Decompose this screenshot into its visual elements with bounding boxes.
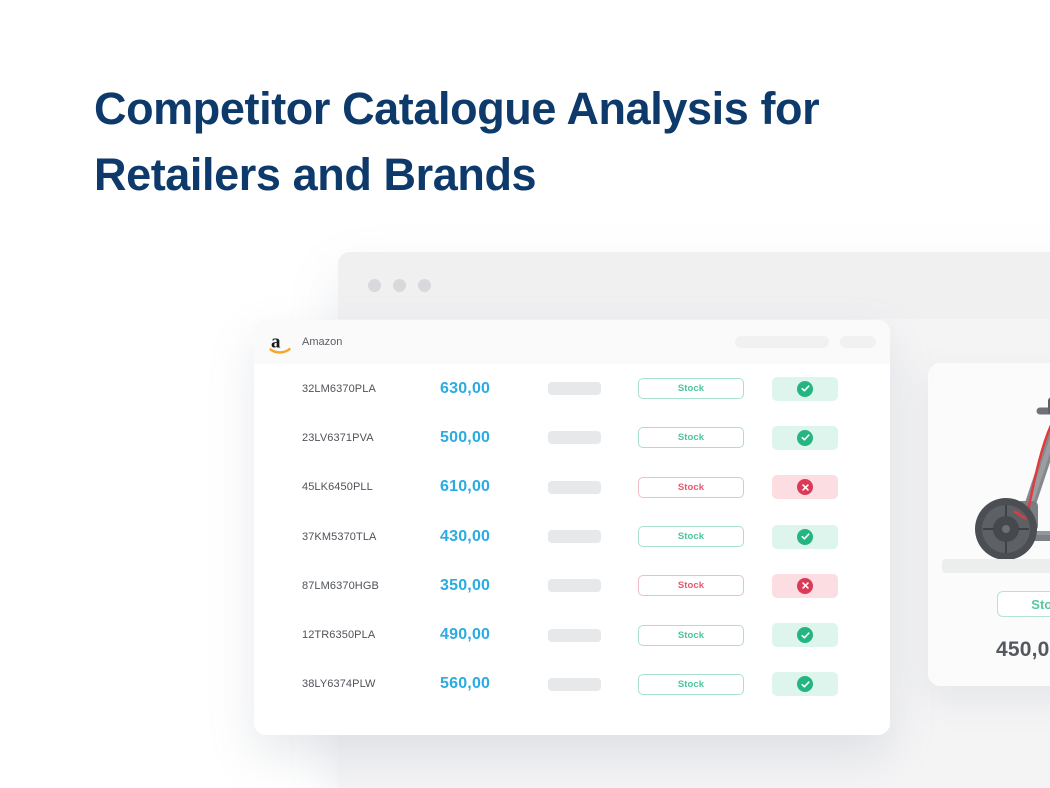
table-row[interactable]: 12TR6350PLA490,00Stock: [254, 610, 890, 659]
header-placeholder-group: [735, 336, 876, 348]
stock-status-pill[interactable]: Stock: [638, 526, 744, 547]
stock-status-pill[interactable]: Stock: [638, 674, 744, 695]
product-sku: 38LY6374PLW: [302, 678, 432, 690]
placeholder-bar: [548, 431, 601, 444]
page-root: Competitor Catalogue Analysis for Retail…: [0, 0, 1050, 788]
table-row[interactable]: 87LM6370HGB350,00Stock: [254, 561, 890, 610]
table-row[interactable]: 38LY6374PLW560,00Stock: [254, 660, 890, 709]
product-sku: 32LM6370PLA: [302, 383, 432, 395]
check-circle-icon: [797, 627, 813, 643]
availability-badge[interactable]: [772, 574, 838, 598]
availability-badge[interactable]: [772, 426, 838, 450]
marketplace-header: a Amazon: [254, 320, 890, 364]
product-stock-badge[interactable]: Stock: [997, 591, 1050, 617]
product-price: 450,00: [996, 638, 1050, 662]
table-row[interactable]: 23LV6371PVA500,00Stock: [254, 413, 890, 462]
placeholder-bar: [548, 678, 601, 691]
availability-badge[interactable]: [772, 672, 838, 696]
table-row[interactable]: 32LM6370PLA630,00Stock: [254, 364, 890, 413]
placeholder-bar: [548, 530, 601, 543]
availability-badge[interactable]: [772, 475, 838, 499]
availability-badge[interactable]: [772, 623, 838, 647]
product-price: 490,00: [440, 626, 530, 644]
amazon-catalogue-card: a Amazon 32LM6370PLA630,00Stock23LV6371P…: [254, 320, 890, 735]
availability-badge[interactable]: [772, 377, 838, 401]
product-price: 430,00: [440, 528, 530, 546]
stock-status-pill[interactable]: Stock: [638, 378, 744, 399]
page-title: Competitor Catalogue Analysis for Retail…: [94, 76, 974, 208]
check-circle-icon: [797, 381, 813, 397]
stock-status-pill[interactable]: Stock: [638, 477, 744, 498]
placeholder-bar: [548, 382, 601, 395]
browser-title-bar: [338, 252, 1050, 319]
amazon-a-smile-icon: a: [268, 329, 294, 355]
stock-status-pill[interactable]: Stock: [638, 625, 744, 646]
product-price: 560,00: [440, 675, 530, 693]
stock-status-pill[interactable]: Stock: [638, 575, 744, 596]
product-sku: 45LK6450PLL: [302, 481, 432, 493]
product-price: 610,00: [440, 478, 530, 496]
placeholder-bar: [548, 481, 601, 494]
product-sku: 23LV6371PVA: [302, 432, 432, 444]
product-detail-card[interactable]: Stock 450,00: [928, 363, 1050, 686]
marketplace-name: Amazon: [302, 336, 342, 348]
catalogue-table: 32LM6370PLA630,00Stock23LV6371PVA500,00S…: [254, 364, 890, 709]
browser-window-controls: [368, 279, 431, 292]
page-title-line-2: Retailers and Brands: [94, 142, 974, 208]
svg-text:a: a: [271, 332, 281, 353]
product-price: 350,00: [440, 577, 530, 595]
product-price: 500,00: [440, 429, 530, 447]
electric-scooter-image: [928, 371, 1050, 566]
placeholder-bar-wide: [735, 336, 829, 348]
window-dot-maximize-icon[interactable]: [418, 279, 431, 292]
placeholder-bar: [548, 629, 601, 642]
check-circle-icon: [797, 430, 813, 446]
table-row[interactable]: 37KM5370TLA430,00Stock: [254, 512, 890, 561]
product-sku: 12TR6350PLA: [302, 629, 432, 641]
product-title-placeholder: [942, 559, 1050, 573]
page-title-line-1: Competitor Catalogue Analysis for: [94, 76, 974, 142]
availability-badge[interactable]: [772, 525, 838, 549]
table-row[interactable]: 45LK6450PLL610,00Stock: [254, 463, 890, 512]
check-circle-icon: [797, 676, 813, 692]
window-dot-minimize-icon[interactable]: [393, 279, 406, 292]
x-circle-icon: [797, 479, 813, 495]
x-circle-icon: [797, 578, 813, 594]
product-price: 630,00: [440, 380, 530, 398]
product-sku: 37KM5370TLA: [302, 531, 432, 543]
placeholder-bar-small: [840, 336, 876, 348]
product-sku: 87LM6370HGB: [302, 580, 432, 592]
window-dot-close-icon[interactable]: [368, 279, 381, 292]
check-circle-icon: [797, 529, 813, 545]
placeholder-bar: [548, 579, 601, 592]
stock-status-pill[interactable]: Stock: [638, 427, 744, 448]
